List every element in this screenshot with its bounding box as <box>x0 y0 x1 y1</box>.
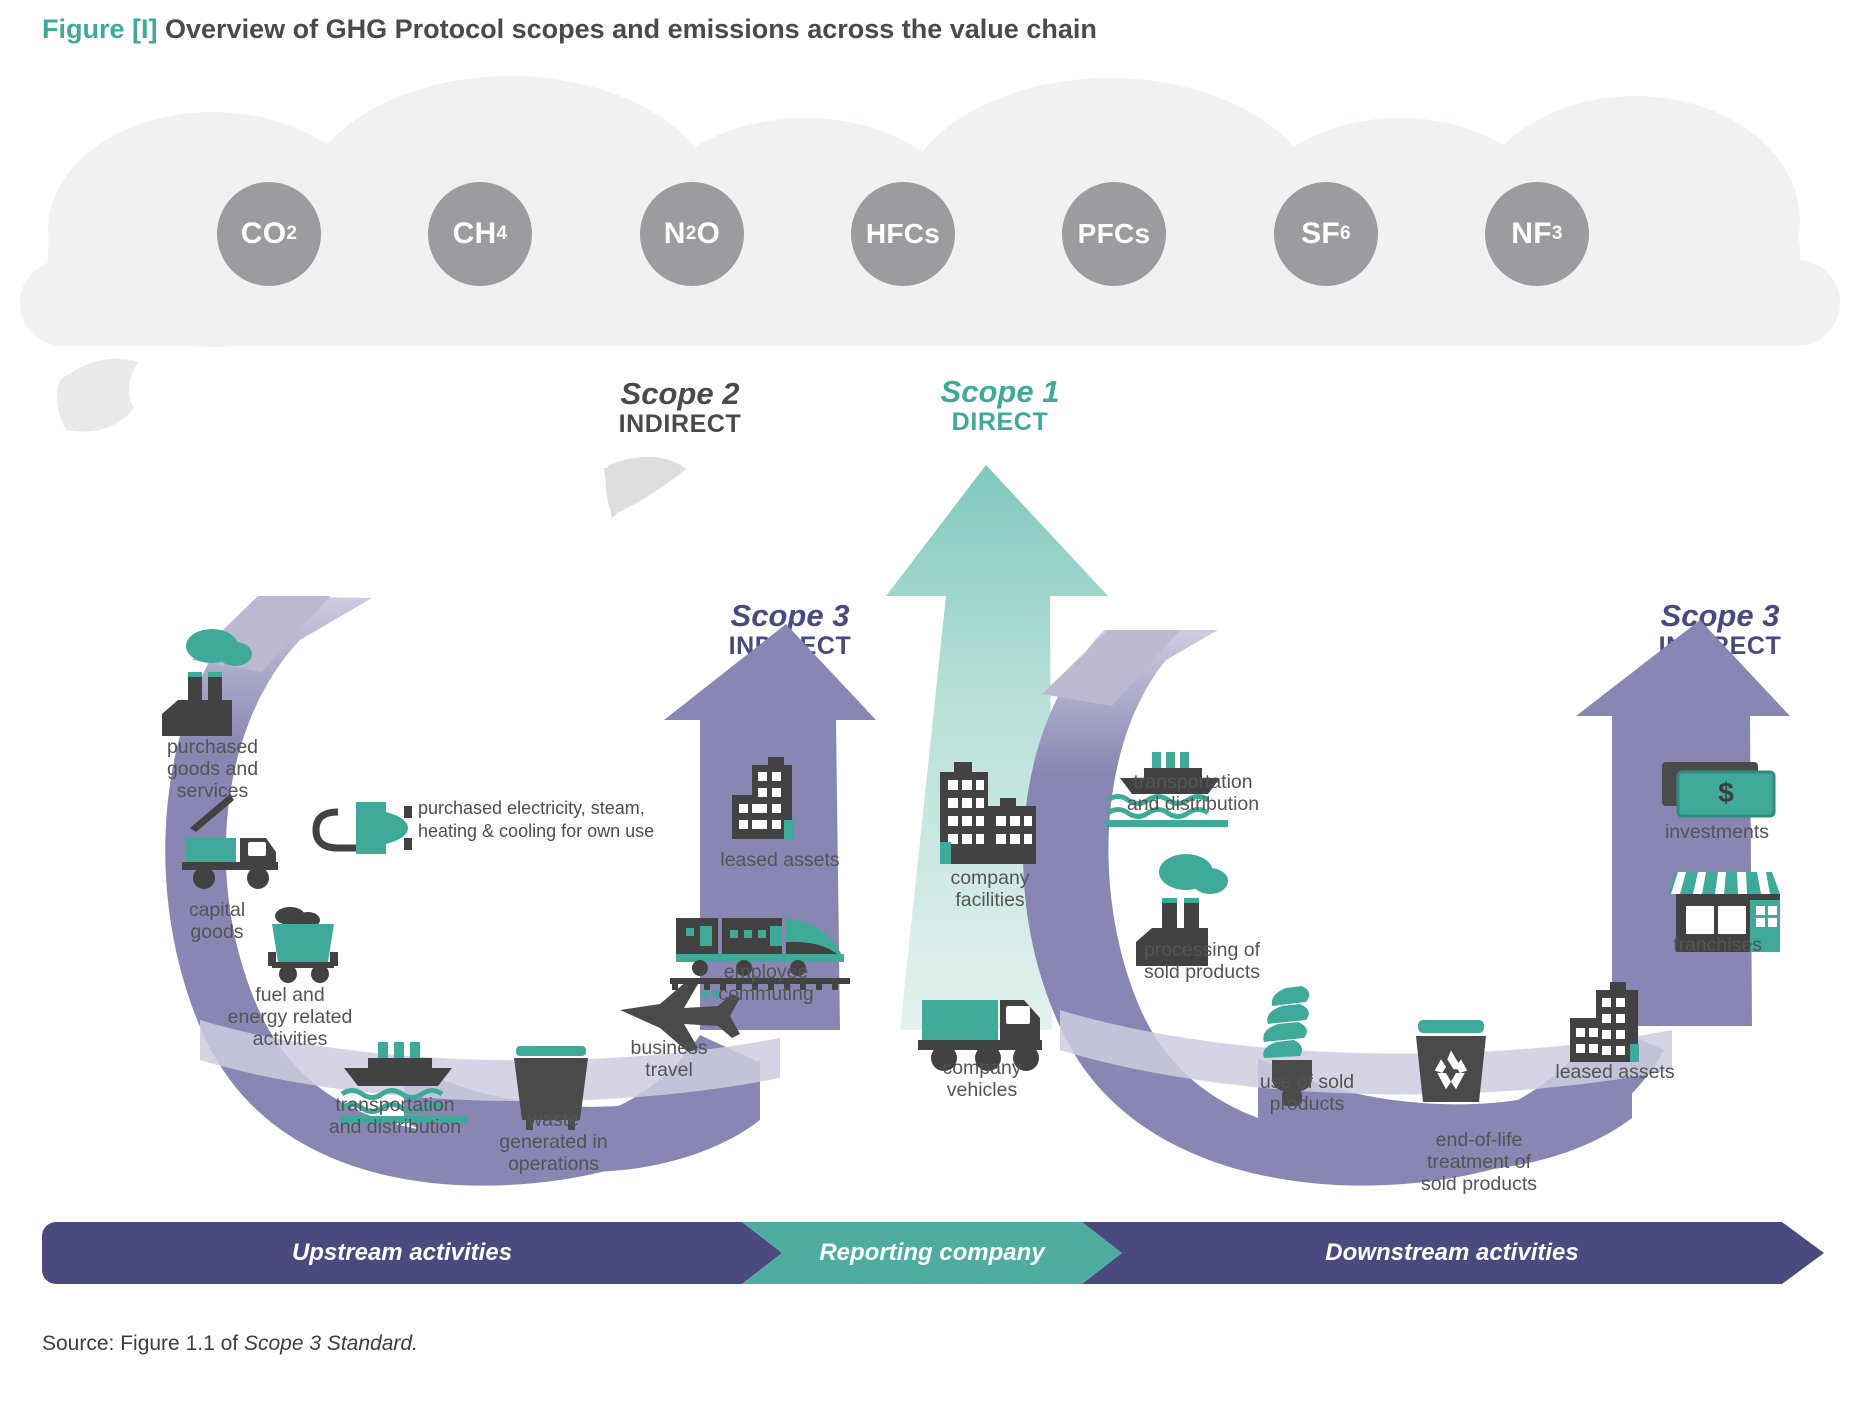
decoration-layer <box>0 0 1864 1404</box>
